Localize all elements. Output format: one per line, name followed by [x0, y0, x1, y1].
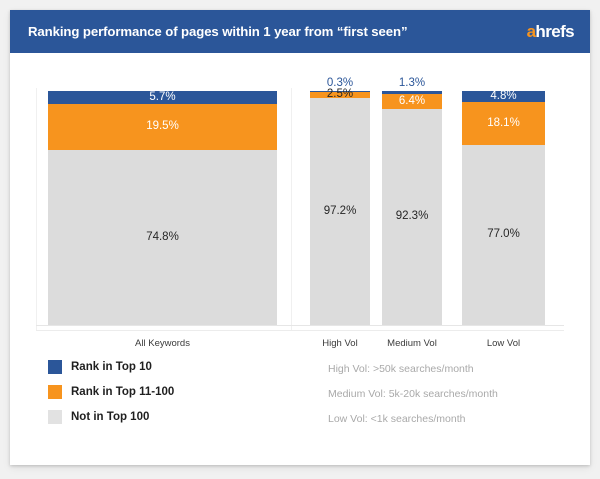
bar-segment-rank-in-top-10[interactable]: 4.8%: [462, 91, 545, 102]
segment-value-label: 74.8%: [146, 232, 179, 244]
logo-text: hrefs: [535, 22, 574, 41]
segment-value-label: 92.3%: [396, 211, 429, 223]
bar-segment-rank-in-top-11-100[interactable]: 6.4%: [382, 94, 442, 109]
bar-group-medium-vol: 1.3%6.4%92.3%Medium Vol: [382, 91, 442, 325]
bar-group-high-vol: 0.3%2.5%97.2%High Vol: [310, 91, 370, 325]
chart-legend: Rank in Top 10Rank in Top 11-100Not in T…: [48, 354, 174, 429]
bar-segment-not-in-top-100[interactable]: 97.2%: [310, 98, 370, 325]
legend-item[interactable]: Rank in Top 11-100: [48, 379, 174, 404]
segment-value-label: 97.2%: [324, 206, 357, 218]
volume-definitions: High Vol: >50k searches/monthMedium Vol:…: [328, 356, 498, 431]
card-header: Ranking performance of pages within 1 ye…: [10, 10, 590, 53]
legend-swatch-top-11-100-icon: [48, 385, 62, 399]
bar-segment-not-in-top-100[interactable]: 92.3%: [382, 109, 442, 325]
bar-segment-rank-in-top-11-100[interactable]: 19.5%: [48, 104, 277, 150]
legend-item-label: Rank in Top 10: [71, 361, 152, 373]
segment-value-label: 4.8%: [490, 91, 516, 103]
segment-value-label: 18.1%: [487, 118, 520, 130]
legend-item-label: Not in Top 100: [71, 411, 149, 423]
ahrefs-logo: ahrefs: [527, 22, 574, 42]
volume-definition-note: Low Vol: <1k searches/month: [328, 406, 498, 431]
segment-value-label: 1.3%: [399, 78, 425, 90]
segment-value-label: 5.7%: [149, 92, 175, 104]
bar-group-low-vol: 4.8%18.1%77.0%Low Vol: [462, 91, 545, 325]
bar-segment-not-in-top-100[interactable]: 77.0%: [462, 145, 545, 325]
segment-value-label: 19.5%: [146, 121, 179, 133]
stacked-bar[interactable]: 4.8%18.1%77.0%: [462, 91, 545, 325]
chart-plot-area: 5.7%19.5%74.8%All Keywords0.3%2.5%97.2%H…: [10, 53, 590, 363]
bar-groups: 5.7%19.5%74.8%All Keywords0.3%2.5%97.2%H…: [10, 53, 590, 363]
volume-definition-note: High Vol: >50k searches/month: [328, 356, 498, 381]
page-title: Ranking performance of pages within 1 ye…: [28, 24, 407, 39]
bar-segment-rank-in-top-10[interactable]: 5.7%: [48, 91, 277, 104]
stacked-bar[interactable]: 5.7%19.5%74.8%: [48, 91, 277, 325]
segment-value-label: 6.4%: [399, 96, 425, 108]
stacked-bar[interactable]: 1.3%6.4%92.3%: [382, 91, 442, 325]
chart-card: Ranking performance of pages within 1 ye…: [10, 10, 590, 465]
legend-swatch-not-top-100-icon: [48, 410, 62, 424]
segment-value-label: 77.0%: [487, 229, 520, 241]
bar-segment-rank-in-top-11-100[interactable]: 18.1%: [462, 102, 545, 144]
bar-segment-not-in-top-100[interactable]: 74.8%: [48, 150, 277, 325]
card-footer: Rank in Top 10Rank in Top 11-100Not in T…: [10, 340, 590, 450]
stacked-bar[interactable]: 0.3%2.5%97.2%: [310, 91, 370, 325]
legend-item-label: Rank in Top 11-100: [71, 386, 174, 398]
footer-divider: [36, 330, 564, 331]
legend-item[interactable]: Not in Top 100: [48, 404, 174, 429]
legend-item[interactable]: Rank in Top 10: [48, 354, 174, 379]
bar-group-all-keywords: 5.7%19.5%74.8%All Keywords: [48, 91, 277, 325]
page-root: Ranking performance of pages within 1 ye…: [0, 0, 600, 479]
volume-definition-note: Medium Vol: 5k-20k searches/month: [328, 381, 498, 406]
legend-swatch-top-10-icon: [48, 360, 62, 374]
